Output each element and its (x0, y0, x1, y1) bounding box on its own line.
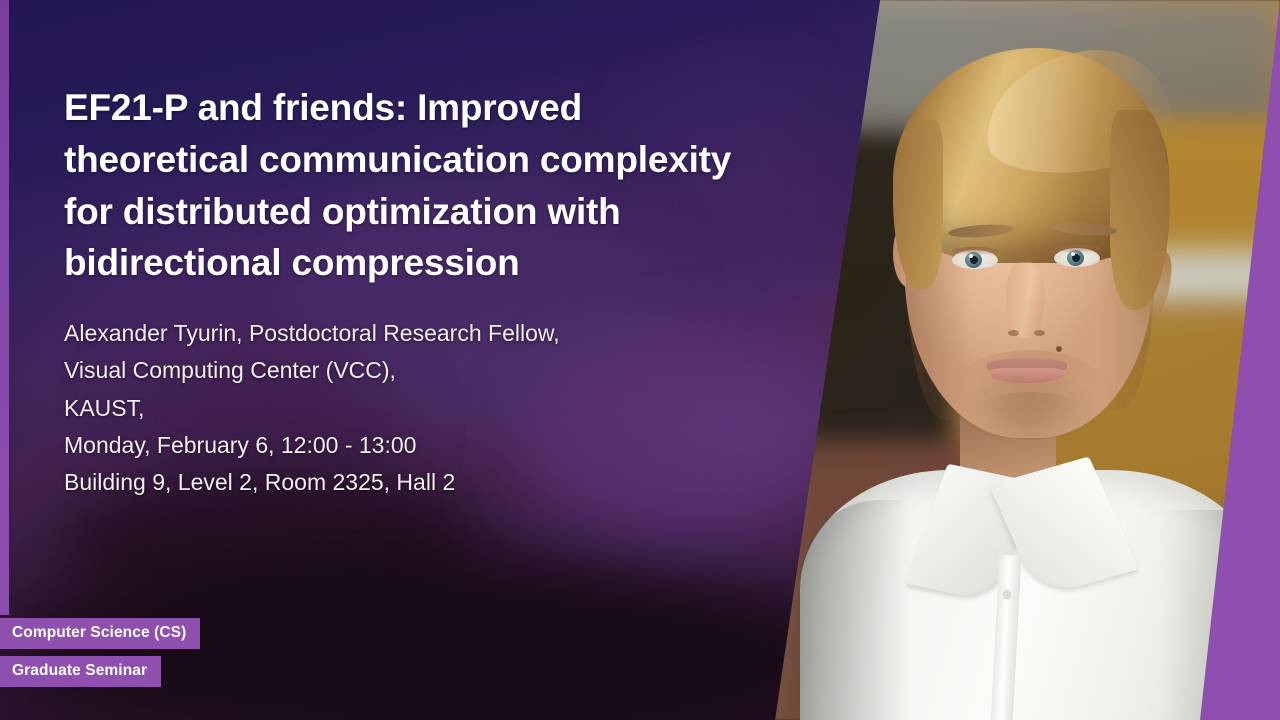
seminar-announcement-card: EF21-P and friends: Improved theoretical… (0, 0, 1280, 720)
hair-side-left (893, 120, 943, 290)
seminar-details: Alexander Tyurin, Postdoctoral Research … (64, 315, 764, 501)
nose (1006, 262, 1044, 338)
eye-right (1054, 248, 1100, 267)
lower-lip (991, 368, 1063, 383)
cheek-mole (1056, 346, 1062, 352)
status-badge-department[interactable]: Computer Science (CS) (0, 618, 200, 649)
speaker-institution: KAUST, (64, 390, 764, 427)
chin-shadow (975, 392, 1085, 432)
eye-left (952, 250, 998, 269)
shirt-button (1003, 590, 1011, 598)
seminar-datetime: Monday, February 6, 12:00 - 13:00 (64, 427, 764, 464)
eyelid (1054, 245, 1100, 253)
shirt-shadow-left (800, 500, 910, 720)
eyelid (952, 247, 998, 255)
nostril-left (1008, 330, 1019, 336)
left-accent-strip (0, 0, 9, 615)
speaker-affiliation: Visual Computing Center (VCC), (64, 352, 764, 389)
seminar-title: EF21-P and friends: Improved theoretical… (64, 82, 736, 289)
seminar-text-block: EF21-P and friends: Improved theoretical… (64, 0, 764, 501)
status-badge-event-type[interactable]: Graduate Seminar (0, 656, 161, 687)
badge-row: Graduate Seminar (0, 656, 200, 687)
nostril-right (1034, 330, 1045, 336)
badge-row: Computer Science (CS) (0, 618, 200, 649)
category-badges: Computer Science (CS) Graduate Seminar (0, 618, 200, 687)
speaker-name-and-role: Alexander Tyurin, Postdoctoral Research … (64, 315, 764, 352)
seminar-location: Building 9, Level 2, Room 2325, Hall 2 (64, 464, 764, 501)
